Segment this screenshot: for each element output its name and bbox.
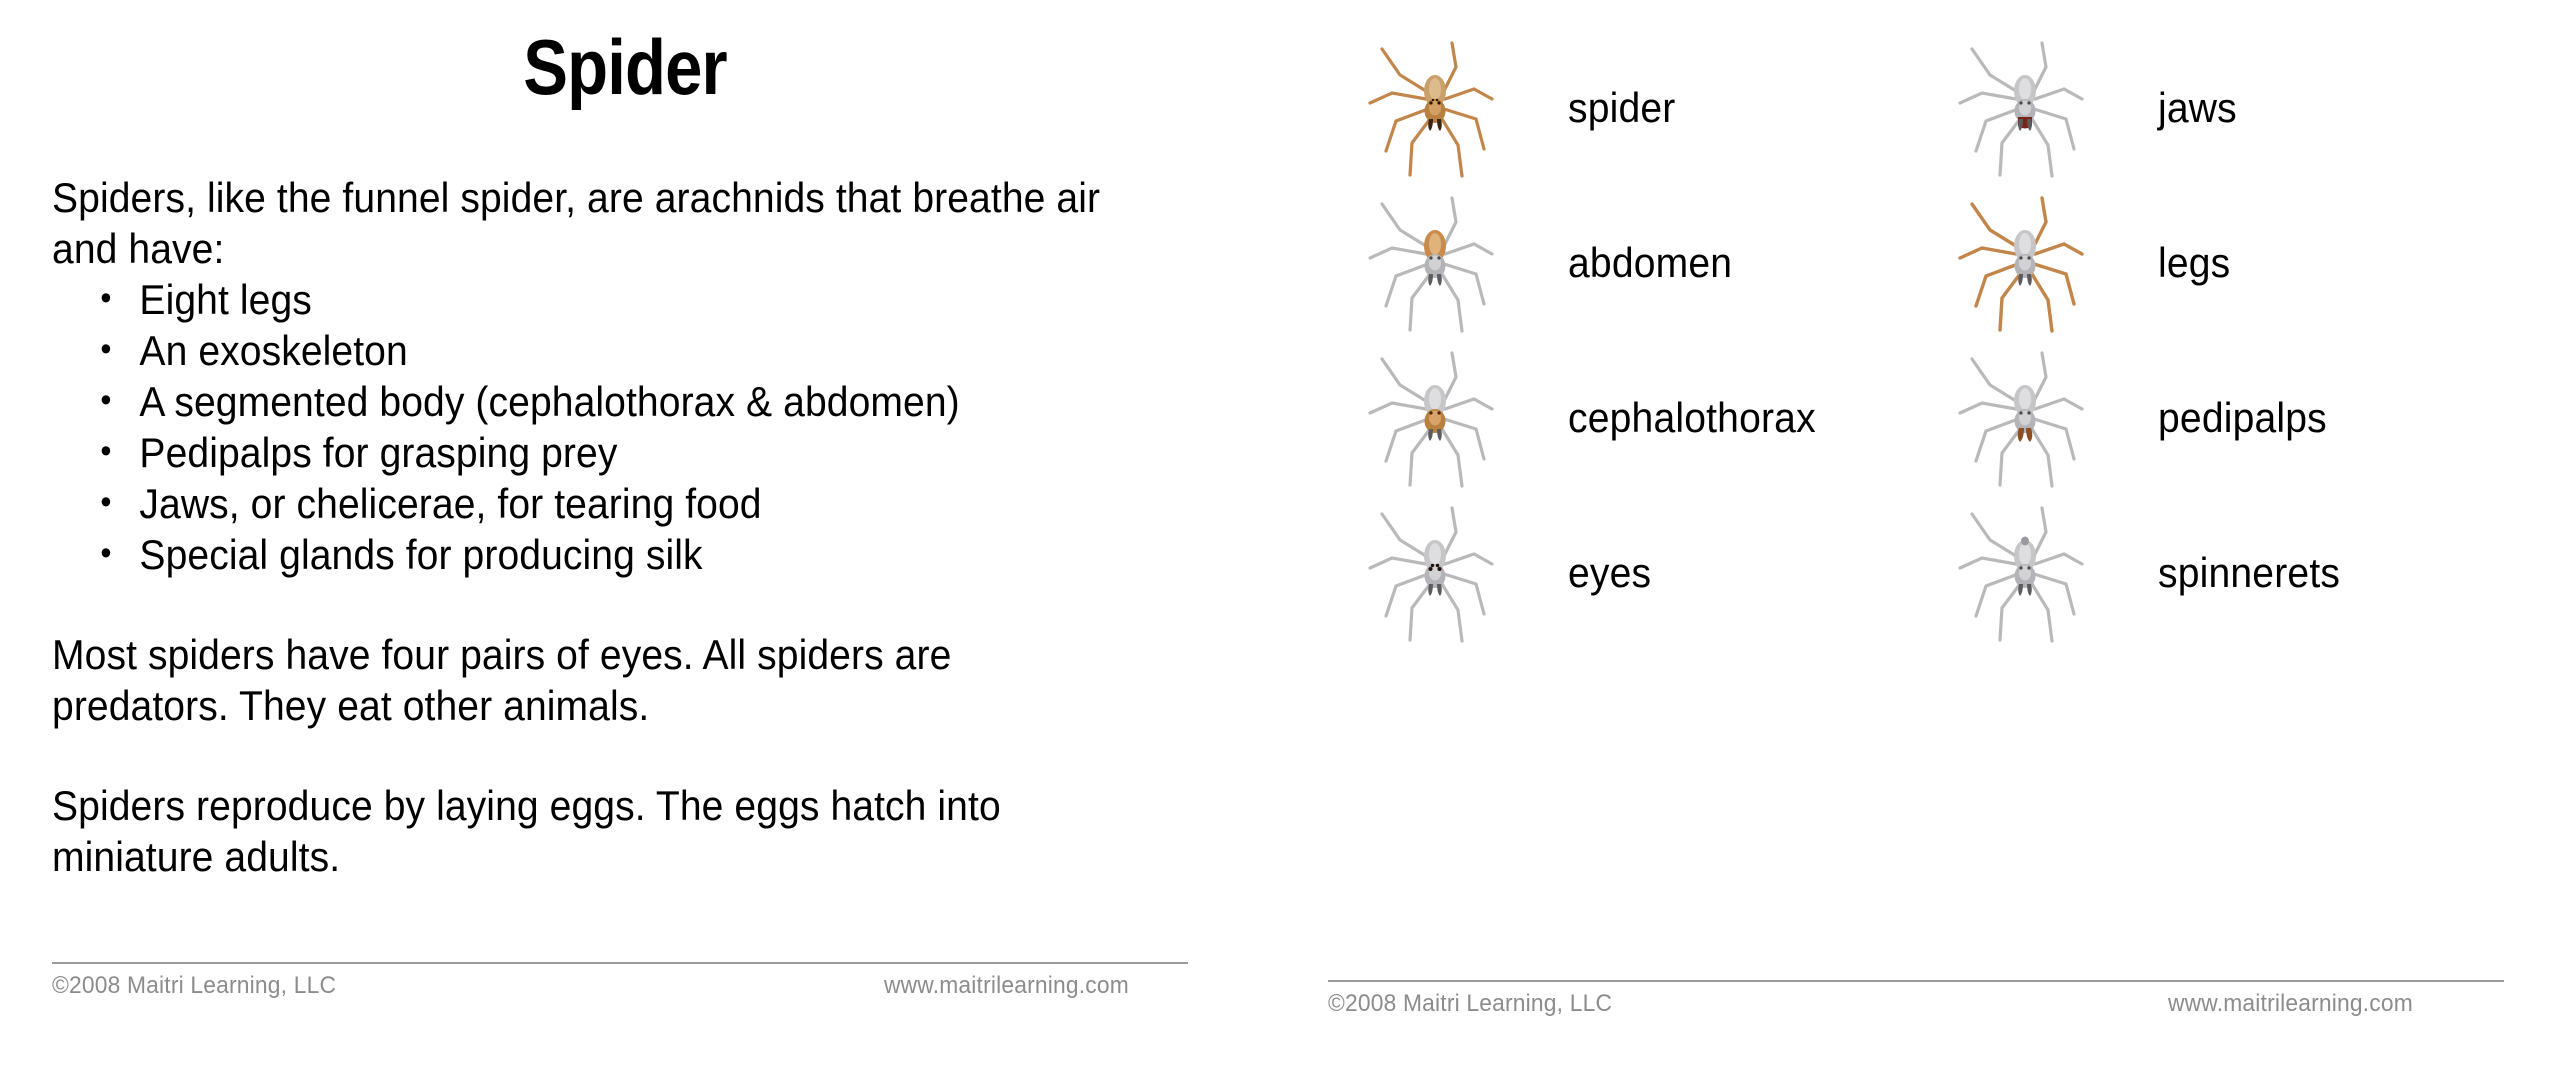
footer-copyright: ©2008 Maitri Learning, LLC bbox=[52, 972, 336, 1000]
label-text: pedipalps bbox=[2158, 394, 2327, 442]
paragraph-spacer bbox=[52, 580, 1131, 629]
footer-divider bbox=[52, 962, 1188, 964]
trait-list: Eight legs An exoskeleton A segmented bo… bbox=[52, 274, 1131, 580]
label-text: legs bbox=[2158, 239, 2230, 287]
paragraph-spacer bbox=[52, 731, 1131, 780]
list-item: abdomen bbox=[1360, 185, 1950, 340]
spider-abdomen-icon bbox=[1360, 188, 1510, 338]
spider-full-color-icon bbox=[1360, 33, 1510, 183]
label-text: spinnerets bbox=[2158, 549, 2340, 597]
list-item: eyes bbox=[1360, 495, 1950, 650]
list-item: Special glands for producing silk bbox=[91, 529, 1131, 580]
spider-pedipalps-icon bbox=[1950, 343, 2100, 493]
label-text: abdomen bbox=[1568, 239, 1732, 287]
list-item: cephalothorax bbox=[1360, 340, 1950, 495]
footer-website: www.maitrilearning.com bbox=[884, 972, 1129, 1000]
paragraph-three: Spiders reproduce by laying eggs. The eg… bbox=[52, 780, 1131, 882]
list-item: An exoskeleton bbox=[91, 325, 1131, 376]
list-item: jaws bbox=[1950, 30, 2540, 185]
label-text: spider bbox=[1568, 84, 1676, 132]
spider-spinnerets-icon bbox=[1950, 498, 2100, 648]
footer-divider bbox=[1328, 980, 2504, 982]
spider-cephalothorax-icon bbox=[1360, 343, 1510, 493]
list-item: Jaws, or chelicerae, for tearing food bbox=[91, 478, 1131, 529]
list-item: spinnerets bbox=[1950, 495, 2540, 650]
list-item: spider bbox=[1360, 30, 1950, 185]
intro-paragraph: Spiders, like the funnel spider, are ara… bbox=[52, 172, 1131, 274]
list-item: Eight legs bbox=[91, 274, 1131, 325]
label-text: jaws bbox=[2158, 84, 2237, 132]
list-item: legs bbox=[1950, 185, 2540, 340]
footer-website: www.maitrilearning.com bbox=[2168, 990, 2413, 1018]
paragraph-two: Most spiders have four pairs of eyes. Al… bbox=[52, 629, 1131, 731]
footer-copyright: ©2008 Maitri Learning, LLC bbox=[1328, 990, 1612, 1018]
list-item: A segmented body (cephalothorax & abdome… bbox=[91, 376, 1131, 427]
right-page: spider bbox=[1250, 0, 2550, 1080]
list-item: Pedipalps for grasping prey bbox=[91, 427, 1131, 478]
label-grid: spider bbox=[1360, 30, 2540, 650]
spider-legs-icon bbox=[1950, 188, 2100, 338]
page-title: Spider bbox=[88, 28, 1163, 106]
label-text: eyes bbox=[1568, 549, 1651, 597]
body-copy: Spiders, like the funnel spider, are ara… bbox=[52, 172, 1131, 882]
list-item: pedipalps bbox=[1950, 340, 2540, 495]
spider-eyes-icon bbox=[1360, 498, 1510, 648]
spider-jaws-icon bbox=[1950, 33, 2100, 183]
left-page: Spider Spiders, like the funnel spider, … bbox=[0, 0, 1250, 1080]
label-text: cephalothorax bbox=[1568, 394, 1816, 442]
